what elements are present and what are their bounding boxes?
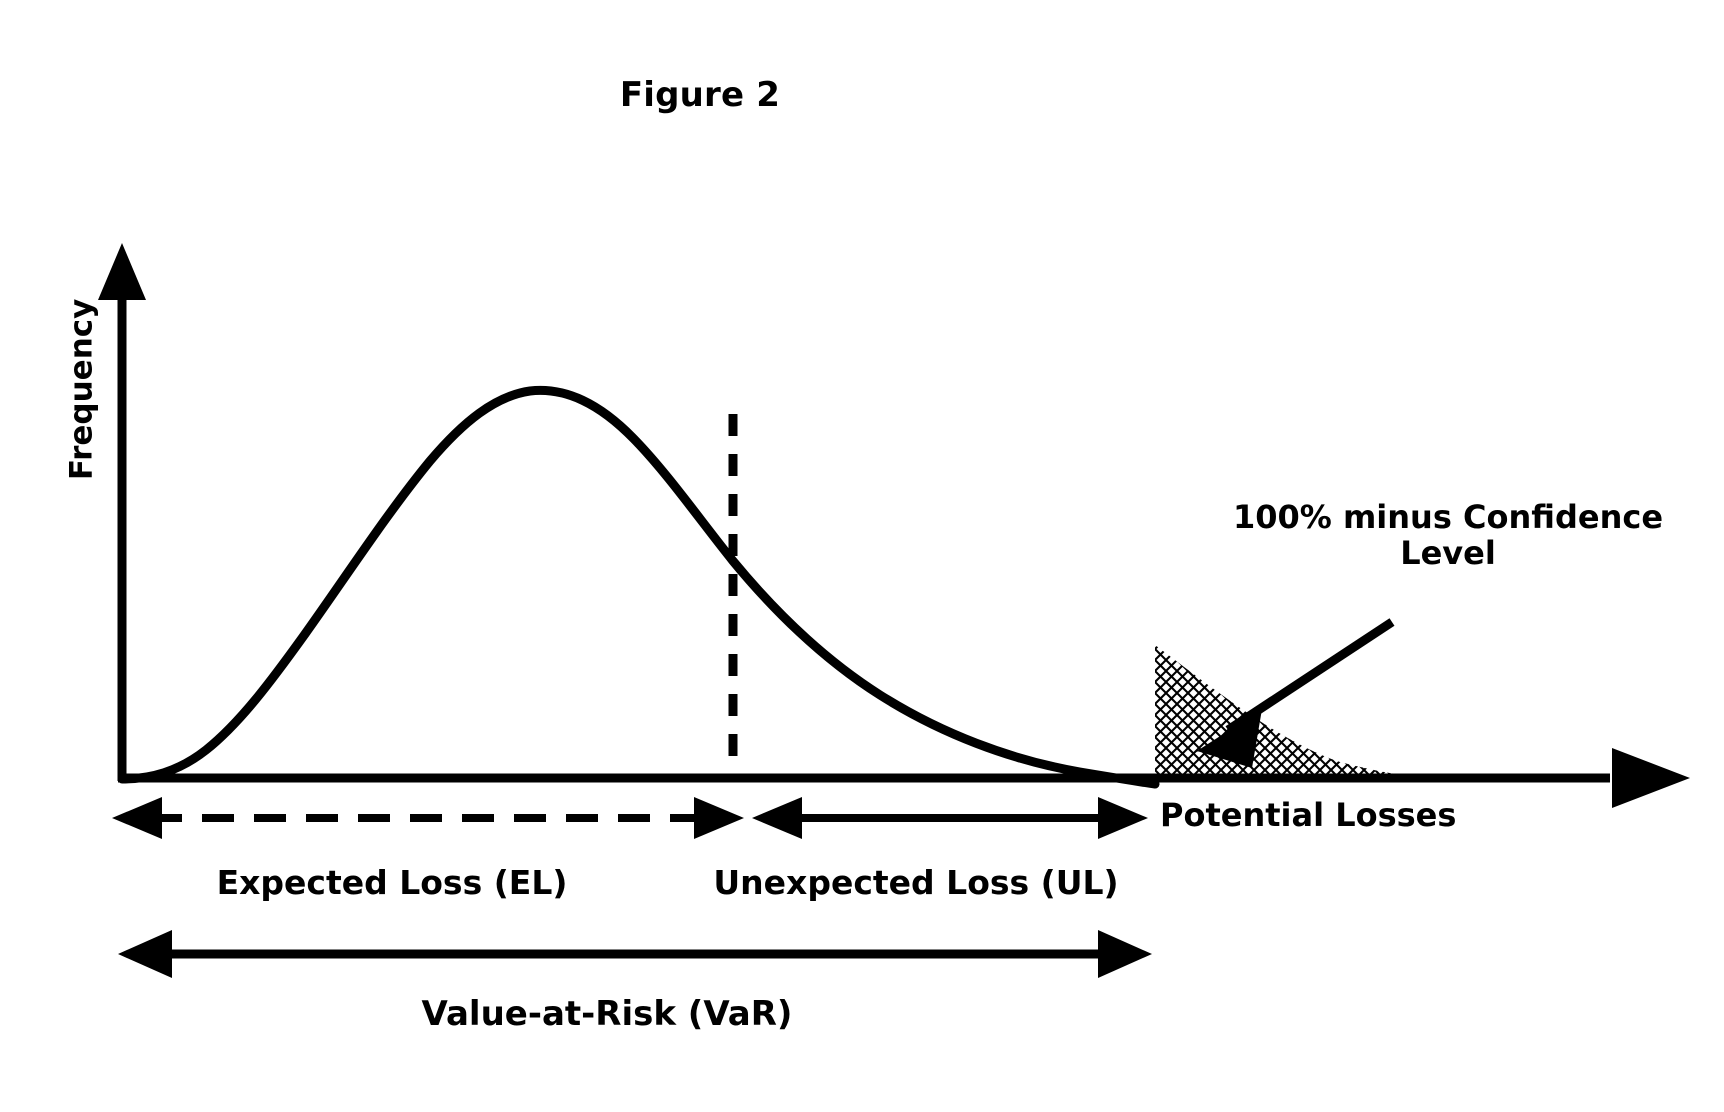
y-axis-label: Frequency <box>65 269 100 509</box>
figure-canvas: Figure 2 Frequency Potential Losses 100%… <box>0 0 1724 1112</box>
unexpected-loss-arrow <box>752 797 1148 839</box>
expected-loss-label: Expected Loss (EL) <box>118 865 666 902</box>
value-at-risk-arrow <box>118 930 1152 978</box>
confidence-level-annotation: 100% minus ConfidenceLevel <box>1148 500 1724 572</box>
x-axis-label: Potential Losses <box>1160 798 1456 834</box>
expected-loss-arrow <box>112 797 744 839</box>
confidence-annotation-line1: 100% minus Confidence <box>1233 498 1663 536</box>
loss-distribution-curve <box>122 390 1155 784</box>
value-at-risk-label: Value-at-Risk (VaR) <box>122 995 1092 1033</box>
figure-title: Figure 2 <box>0 76 1400 114</box>
confidence-tail-region <box>1155 645 1446 779</box>
y-axis <box>98 243 146 781</box>
confidence-annotation-line2: Level <box>1400 534 1496 572</box>
unexpected-loss-label: Unexpected Loss (UL) <box>680 865 1152 902</box>
